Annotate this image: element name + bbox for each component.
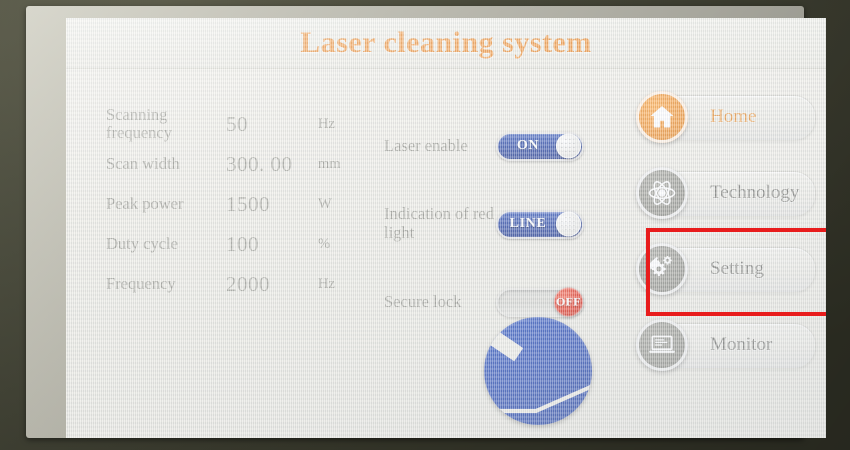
nav-icon-wrap-home (636, 91, 688, 143)
blue-disc-indicator[interactable] (484, 317, 592, 425)
disc-notch (486, 329, 523, 361)
toggle-state-red-light: LINE (500, 212, 556, 237)
parameter-unit-duty-cycle: % (318, 236, 330, 253)
switch-row-red-light: Indication of red light LINE (384, 185, 584, 263)
parameter-label-scan-width: Scan width (106, 155, 226, 173)
gears-icon (646, 253, 678, 285)
nav-menu: Home (636, 91, 816, 395)
switch-label-secure-lock: Secure lock (384, 293, 496, 312)
parameter-label-peak-power: Peak power (106, 195, 226, 213)
parameter-unit-scan-width: mm (318, 156, 341, 173)
main-content: Scanning frequency 50 Hz Scan width 300.… (66, 69, 826, 438)
parameter-unit-frequency: Hz (318, 276, 335, 293)
switch-list: Laser enable ON Indication of red light … (384, 107, 584, 341)
page-title: Laser cleaning system (300, 26, 592, 60)
parameter-row: Duty cycle 100 % (106, 224, 341, 264)
parameter-label-scanning-frequency: Scanning frequency (106, 106, 226, 143)
toggle-knob-secure-lock[interactable]: OFF (554, 288, 583, 317)
switch-label-laser-enable: Laser enable (384, 137, 496, 156)
nav-icon-wrap-monitor (636, 319, 688, 371)
screen-bezel: Laser cleaning system Scanning frequency… (26, 6, 804, 438)
nav-button-setting[interactable]: Setting (636, 243, 816, 295)
parameter-row: Scan width 300. 00 mm (106, 144, 341, 184)
nav-icon-wrap-setting (636, 243, 688, 295)
laptop-icon (647, 330, 677, 360)
parameter-value-peak-power[interactable]: 1500 (226, 192, 318, 217)
parameter-value-scan-width[interactable]: 300. 00 (226, 152, 318, 177)
toggle-state-secure-lock: OFF (556, 295, 581, 310)
home-icon (647, 102, 677, 132)
parameter-row: Frequency 2000 Hz (106, 264, 341, 304)
parameter-label-duty-cycle: Duty cycle (106, 235, 226, 253)
toggle-red-light[interactable]: LINE (496, 210, 584, 239)
parameter-value-scanning-frequency[interactable]: 50 (226, 112, 318, 137)
nav-button-monitor[interactable]: Monitor (636, 319, 816, 371)
nav-icon-wrap-technology (636, 167, 688, 219)
toggle-state-laser-enable: ON (500, 134, 556, 159)
toggle-secure-lock[interactable]: OFF (496, 288, 584, 317)
nav-label-technology: Technology (710, 182, 799, 204)
toggle-knob-laser-enable[interactable] (556, 134, 581, 159)
parameter-value-frequency[interactable]: 2000 (226, 272, 318, 297)
nav-label-monitor: Monitor (710, 334, 772, 356)
disc-chevron-icon (484, 375, 592, 417)
parameter-list: Scanning frequency 50 Hz Scan width 300.… (106, 104, 341, 304)
toggle-laser-enable[interactable]: ON (496, 132, 584, 161)
nav-label-home: Home (710, 106, 756, 128)
nav-label-setting: Setting (710, 258, 764, 280)
title-bar: Laser cleaning system (66, 18, 826, 69)
parameter-label-frequency: Frequency (106, 275, 226, 293)
parameter-row: Scanning frequency 50 Hz (106, 104, 341, 144)
lcd-screen: Laser cleaning system Scanning frequency… (66, 18, 826, 438)
toggle-knob-red-light[interactable] (556, 212, 581, 237)
atom-icon (647, 178, 677, 208)
parameter-unit-peak-power: W (318, 196, 332, 213)
parameter-row: Peak power 1500 W (106, 184, 341, 224)
parameter-unit-scanning-frequency: Hz (318, 116, 335, 133)
parameter-value-duty-cycle[interactable]: 100 (226, 232, 318, 257)
nav-button-home[interactable]: Home (636, 91, 816, 143)
nav-button-technology[interactable]: Technology (636, 167, 816, 219)
machine-frame: Laser cleaning system Scanning frequency… (0, 0, 850, 450)
switch-row-laser-enable: Laser enable ON (384, 107, 584, 185)
switch-label-red-light: Indication of red light (384, 205, 496, 243)
